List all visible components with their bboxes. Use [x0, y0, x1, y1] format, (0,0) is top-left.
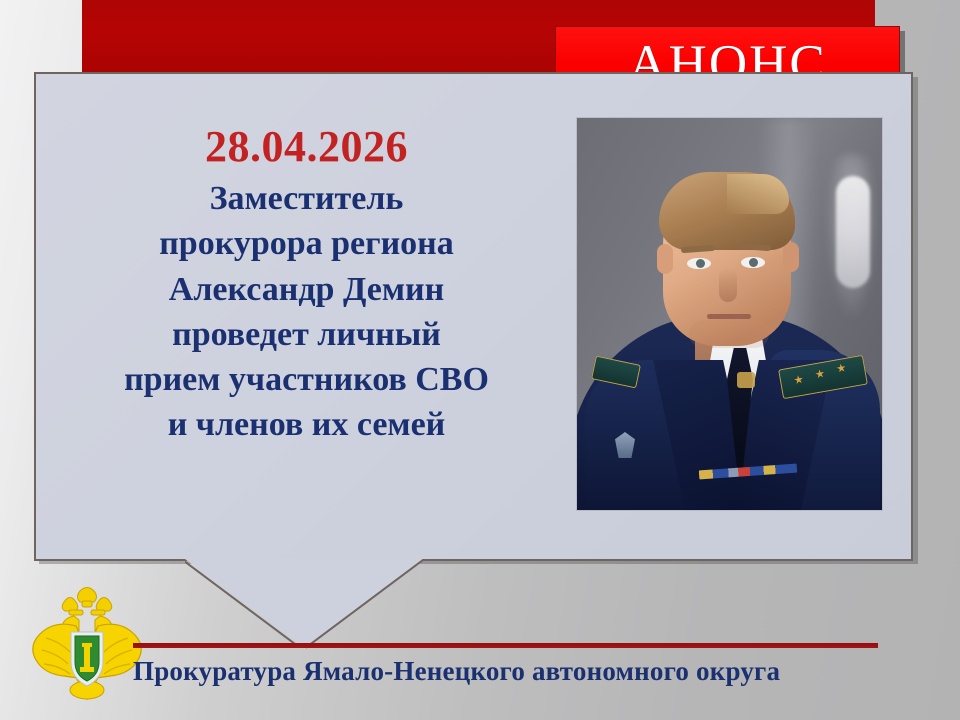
- pupil-left: [696, 259, 705, 268]
- headline-line-1: Заместитель: [124, 176, 489, 221]
- mouth: [707, 314, 751, 319]
- poster-canvas: АНОНС 28.04.2026 Заместитель прокурора р…: [0, 0, 960, 720]
- hair-part: [727, 174, 789, 214]
- prosecutor-emblem-icon: [26, 586, 148, 702]
- headline-line-5: прием участников СВО: [124, 357, 489, 402]
- nose: [719, 268, 737, 302]
- collar-emblem-icon: [737, 372, 755, 388]
- portrait-photo: [577, 118, 882, 510]
- headline-line-3: Александр Демин: [124, 267, 489, 312]
- announcement-headline: Заместитель прокурора региона Александр …: [124, 176, 489, 447]
- rank-star-icon: [793, 375, 803, 385]
- headline-line-2: прокурора региона: [124, 221, 489, 266]
- footer-organization: Прокуратура Ямало-Ненецкого автономного …: [133, 650, 923, 692]
- ear-left: [657, 244, 673, 274]
- chin: [689, 320, 769, 348]
- pupil-right: [749, 258, 758, 267]
- wall-lamp-icon: [836, 176, 870, 288]
- footer-rule: [133, 643, 878, 648]
- announcement-date: 28.04.2026: [205, 124, 408, 170]
- headline-line-4: проведет личный: [124, 312, 489, 357]
- callout-tail: [185, 559, 425, 649]
- portrait-background: [577, 118, 882, 510]
- rank-star-icon: [836, 363, 846, 373]
- ear-right: [783, 242, 799, 272]
- rank-star-icon: [815, 369, 825, 379]
- headline-line-6: и членов их семей: [124, 402, 489, 447]
- announcement-text-column: 28.04.2026 Заместитель прокурора региона…: [34, 72, 579, 561]
